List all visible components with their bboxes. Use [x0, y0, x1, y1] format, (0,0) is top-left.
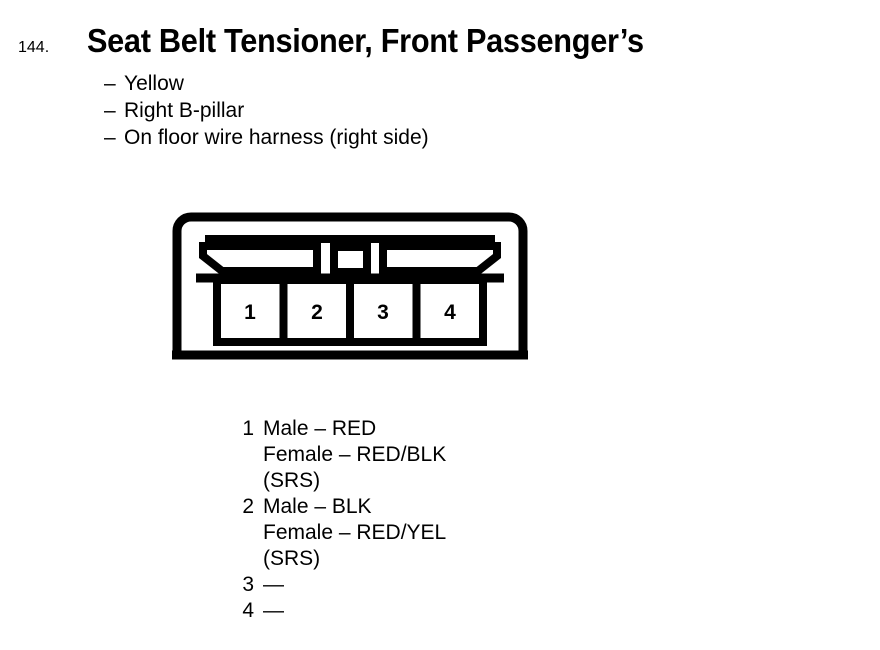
description-item-label: Right B-pillar: [124, 99, 244, 123]
legend-line: —: [263, 598, 284, 624]
dash-marker: –: [104, 126, 124, 150]
legend-pin-number: 4: [238, 598, 254, 624]
description-item-label: On floor wire harness (right side): [124, 126, 429, 150]
page-title-number: 144.: [18, 39, 49, 57]
cavity-number-2: 2: [311, 301, 323, 324]
dash-marker: –: [104, 72, 124, 96]
legend-pin-number: 1: [238, 416, 254, 442]
legend-pin-detail: Male – RED Female – RED/BLK (SRS): [263, 416, 446, 494]
legend-pin-detail: —: [263, 572, 284, 598]
legend-row: 3 —: [238, 572, 446, 598]
legend-line: (SRS): [263, 468, 446, 494]
description-item: – Yellow: [104, 72, 429, 99]
description-list: – Yellow – Right B-pillar – On floor wir…: [104, 72, 429, 153]
legend-pin-number: 2: [238, 494, 254, 520]
connector-drawing: 1 2 3 4: [172, 212, 528, 360]
right-latch-slot: [383, 246, 497, 271]
legend-row: 1 Male – RED Female – RED/BLK (SRS): [238, 416, 446, 494]
legend-row: 4 —: [238, 598, 446, 624]
page-title: 144. Seat Belt Tensioner, Front Passenge…: [18, 22, 665, 60]
page-title-text: Seat Belt Tensioner, Front Passenger’s: [87, 22, 644, 60]
legend-pin-detail: —: [263, 598, 284, 624]
description-item: – On floor wire harness (right side): [104, 126, 429, 153]
center-square-slot: [334, 247, 367, 272]
cavity-row: 1 2 3 4: [217, 280, 483, 342]
pin-legend: 1 Male – RED Female – RED/BLK (SRS) 2 Ma…: [238, 416, 446, 624]
legend-line: (SRS): [263, 546, 446, 572]
legend-row: 2 Male – BLK Female – RED/YEL (SRS): [238, 494, 446, 572]
legend-pin-detail: Male – BLK Female – RED/YEL (SRS): [263, 494, 446, 572]
legend-line: Male – BLK: [263, 494, 446, 520]
connector-diagram: 1 2 3 4: [172, 212, 528, 360]
legend-line: —: [263, 572, 284, 598]
description-item: – Right B-pillar: [104, 99, 429, 126]
cavity-number-3: 3: [377, 301, 389, 324]
legend-pin-number: 3: [238, 572, 254, 598]
left-latch-slot: [203, 246, 317, 271]
dash-marker: –: [104, 99, 124, 123]
legend-line: Male – RED: [263, 416, 446, 442]
description-item-label: Yellow: [124, 72, 184, 96]
cavity-number-4: 4: [444, 301, 456, 324]
legend-line: Female – RED/BLK: [263, 442, 446, 468]
cavity-number-1: 1: [244, 301, 256, 324]
legend-line: Female – RED/YEL: [263, 520, 446, 546]
